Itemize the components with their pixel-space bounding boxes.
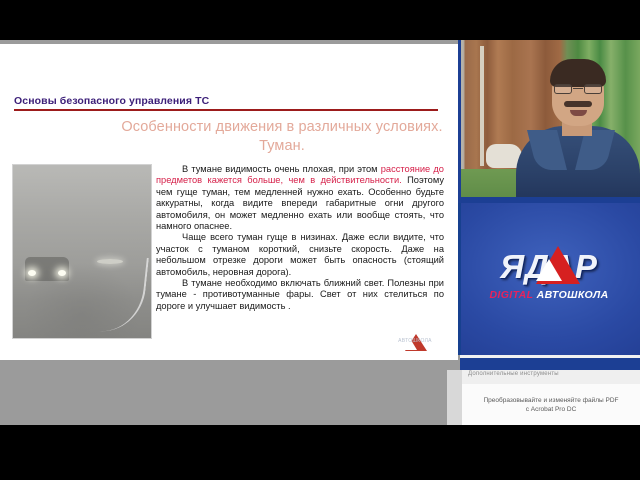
brand-subtitle: DIGITAL АВТОШКОЛА bbox=[458, 289, 640, 301]
paragraph-1-pre: В тумане видимость очень плохая, при это… bbox=[182, 164, 381, 174]
background-app-sidebar bbox=[447, 370, 462, 425]
body-paragraph-2: Чаще всего туман гуще в низинах. Даже ес… bbox=[156, 232, 444, 278]
presentation-slide: Основы безопасного управления ТС Особенн… bbox=[0, 44, 458, 360]
glasses-lens-right bbox=[584, 84, 602, 94]
oncoming-car bbox=[25, 257, 69, 281]
brand-logo: ЯДАР DIGITAL АВТОШКОЛА bbox=[458, 249, 640, 315]
speaker-hair bbox=[550, 59, 606, 87]
brand-logo-panel[interactable]: ЯДАР DIGITAL АВТОШКОЛА bbox=[458, 203, 640, 355]
webcam-video-panel[interactable] bbox=[458, 40, 640, 203]
speaker-mustache bbox=[564, 101, 592, 107]
slide-body-text: В тумане видимость очень плохая, при это… bbox=[156, 164, 444, 312]
fog-road-photo bbox=[12, 164, 152, 339]
distant-headlights bbox=[97, 259, 123, 264]
slide-header: Основы безопасного управления ТС bbox=[14, 95, 444, 111]
glasses-icon bbox=[554, 84, 602, 94]
slide-title: Особенности движения в различных условия… bbox=[120, 118, 444, 156]
slide-header-divider bbox=[14, 109, 438, 111]
brand-subtitle-digital: DIGITAL bbox=[489, 289, 533, 301]
background-app-toolbar-label: Дополнительные инструменты bbox=[468, 371, 559, 377]
brand-triangle-inner-icon bbox=[536, 259, 562, 281]
slide-header-label: Основы безопасного управления ТС bbox=[14, 95, 444, 107]
background-app-toolbar[interactable]: Дополнительные инструменты bbox=[462, 370, 640, 385]
webcam-pole bbox=[480, 46, 484, 166]
body-paragraph-3: В тумане необходимо включать ближний све… bbox=[156, 278, 444, 312]
letterbox-top bbox=[0, 0, 640, 40]
background-app-content: Преобразовывайте и изменяйте файлы PDF с… bbox=[462, 384, 640, 425]
body-paragraph-1: В тумане видимость очень плохая, при это… bbox=[156, 164, 444, 232]
promo-line-1: Преобразовывайте и изменяйте файлы PDF bbox=[462, 396, 640, 405]
promo-line-2: с Acrobat Pro DC bbox=[462, 405, 640, 414]
glasses-lens-left bbox=[554, 84, 572, 94]
glasses-bridge bbox=[573, 88, 583, 89]
slide-corner-logo: АВТОШКОЛА bbox=[385, 332, 445, 356]
brand-subtitle-school: АВТОШКОЛА bbox=[537, 289, 609, 301]
letterbox-bottom bbox=[0, 425, 640, 480]
background-app-titlebar bbox=[460, 358, 640, 370]
background-app-promo: Преобразовывайте и изменяйте файлы PDF с… bbox=[462, 396, 640, 414]
webcam-frame-left bbox=[458, 40, 461, 203]
slide-corner-logo-text: АВТОШКОЛА bbox=[385, 338, 445, 344]
screen-recording-frame: Дополнительные инструменты Преобразовыва… bbox=[0, 0, 640, 480]
